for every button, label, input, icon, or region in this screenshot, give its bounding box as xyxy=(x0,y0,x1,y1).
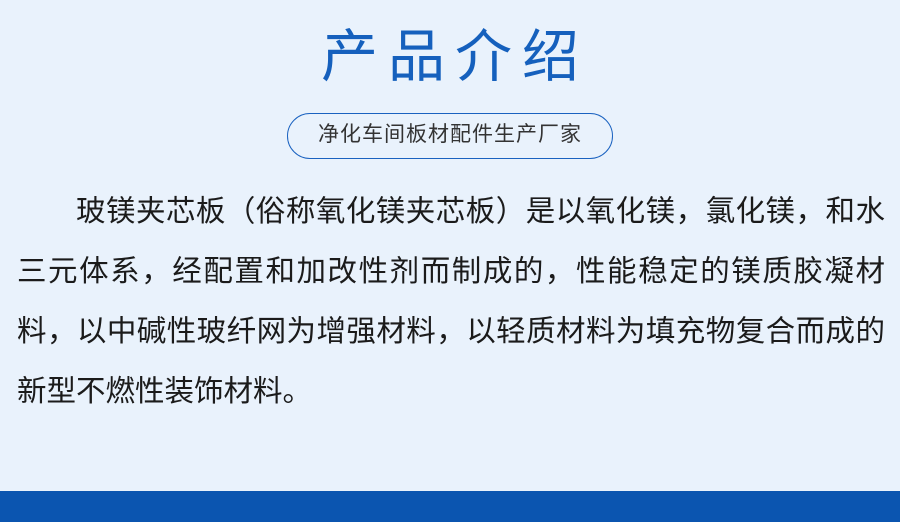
subtitle-badge: 净化车间板材配件生产厂家 xyxy=(287,113,613,159)
subtitle-row: 净化车间板材配件生产厂家 xyxy=(0,113,900,159)
page-title: 产品介绍 xyxy=(0,22,900,92)
product-description-paragraph: 玻镁夹芯板（俗称氧化镁夹芯板）是以氧化镁，氯化镁，和水三元体系，经配置和加改性剂… xyxy=(17,182,885,422)
bottom-accent-bar xyxy=(0,491,900,522)
product-introduction-page: 产品介绍 净化车间板材配件生产厂家 玻镁夹芯板（俗称氧化镁夹芯板）是以氧化镁，氯… xyxy=(0,0,900,522)
